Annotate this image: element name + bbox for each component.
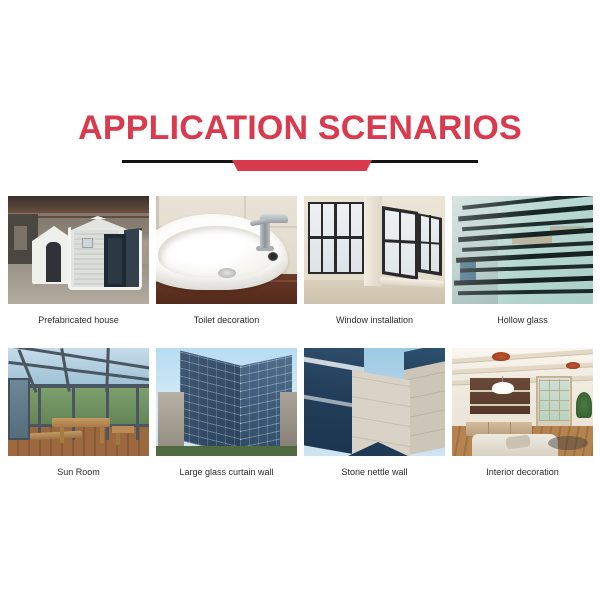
scenario-caption: Window installation	[304, 314, 445, 326]
page-header: APPLICATION SCENARIOS	[0, 0, 600, 186]
scenario-card-interior-decoration[interactable]: Interior decoration	[452, 348, 593, 478]
scenario-card-large-glass-curtain-wall[interactable]: Large glass curtain wall	[156, 348, 297, 478]
stone-nettle-wall-photo[interactable]	[304, 348, 445, 456]
hollow-glass-photo[interactable]	[452, 196, 593, 304]
page-title: APPLICATION SCENARIOS	[0, 108, 600, 148]
scenario-row: Sun Room Large glass curtain wall	[0, 338, 600, 490]
scenario-card-hollow-glass[interactable]: Hollow glass	[452, 196, 593, 326]
scenario-caption: Large glass curtain wall	[156, 466, 297, 478]
scenario-card-toilet-decoration[interactable]: Toilet decoration	[156, 196, 297, 326]
scenario-card-window-installation[interactable]: Window installation	[304, 196, 445, 326]
scenario-caption: Toilet decoration	[156, 314, 297, 326]
prefabricated-house-photo[interactable]	[8, 196, 149, 304]
title-divider	[0, 158, 600, 178]
scenario-caption: Stone nettle wall	[304, 466, 445, 478]
scenario-row: Prefabricated house	[0, 186, 600, 338]
divider-accent-tab	[232, 160, 372, 171]
scenario-card-prefabricated-house[interactable]: Prefabricated house	[8, 196, 149, 326]
scenario-card-sun-room[interactable]: Sun Room	[8, 348, 149, 478]
sun-room-photo[interactable]	[8, 348, 149, 456]
scenario-caption: Sun Room	[8, 466, 149, 478]
large-glass-curtain-wall-photo[interactable]	[156, 348, 297, 456]
scenario-caption: Hollow glass	[452, 314, 593, 326]
scenario-card-stone-nettle-wall[interactable]: Stone nettle wall	[304, 348, 445, 478]
scenario-caption: Interior decoration	[452, 466, 593, 478]
scenario-grid: Prefabricated house	[0, 186, 600, 490]
window-installation-photo[interactable]	[304, 196, 445, 304]
interior-decoration-photo[interactable]	[452, 348, 593, 456]
toilet-decoration-photo[interactable]	[156, 196, 297, 304]
application-scenarios-page: APPLICATION SCENARIOS	[0, 0, 600, 600]
scenario-caption: Prefabricated house	[8, 314, 149, 326]
